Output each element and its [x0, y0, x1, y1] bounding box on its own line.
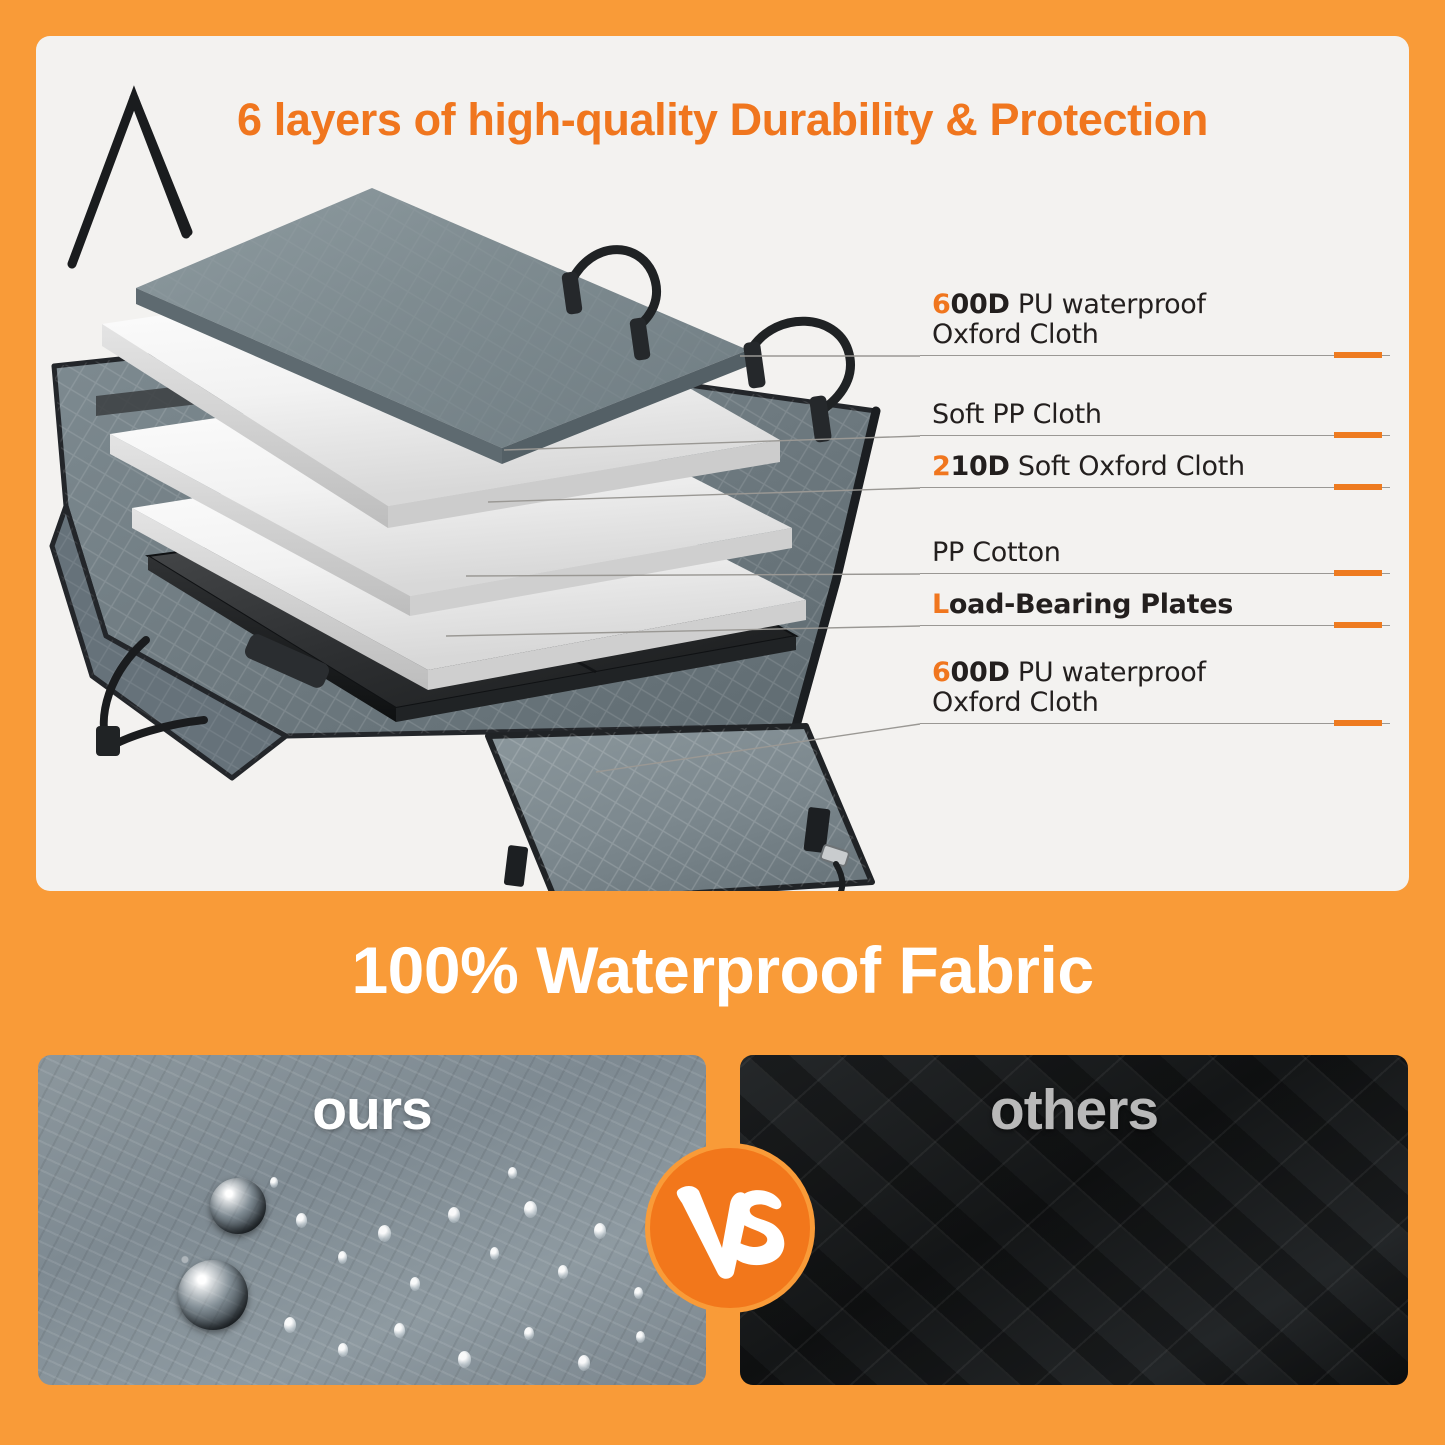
callout-tail-1: PU waterproof	[1010, 289, 1206, 320]
vs-badge	[650, 1148, 810, 1308]
water-droplet	[578, 1355, 590, 1371]
lower-strap-buckle	[96, 726, 120, 756]
callout-layer-5: Load-Bearing Plates	[920, 574, 1390, 626]
water-droplet	[410, 1277, 420, 1291]
water-droplet	[448, 1207, 460, 1223]
callout-dash-6	[1334, 720, 1382, 726]
water-droplet	[296, 1213, 307, 1228]
callout-layer-4: PP Cotton	[920, 488, 1390, 574]
water-droplet	[508, 1167, 517, 1179]
water-bead	[210, 1178, 266, 1234]
water-droplet	[338, 1343, 348, 1357]
vs-icon	[670, 1174, 790, 1282]
callout-label-2: Soft PP Cloth	[932, 400, 1102, 430]
product-exploded-view	[36, 36, 916, 891]
callout-layer-6: 600D PU waterproof Oxford Cloth	[920, 626, 1390, 724]
callout-label-4: PP Cotton	[932, 538, 1061, 568]
water-droplet	[394, 1323, 405, 1338]
water-droplet	[558, 1265, 568, 1279]
banner-title: 100% Waterproof Fabric	[351, 932, 1093, 1008]
product-illustration-svg	[36, 36, 916, 891]
elastic-straps	[72, 98, 188, 264]
callout-layer-1: 600D PU waterproof Oxford Cloth	[920, 251, 1390, 356]
water-droplet	[636, 1331, 645, 1343]
callout-line2-1: Oxford Cloth	[932, 319, 1099, 350]
callout-label-5: Load-Bearing Plates	[932, 590, 1233, 620]
comparison-panel-ours: ours	[38, 1055, 706, 1385]
callout-line2-6: Oxford Cloth	[932, 687, 1099, 718]
callout-label-6: 600D PU waterproof Oxford Cloth	[932, 658, 1206, 718]
callout-lead-rest-6: 00D	[951, 657, 1010, 688]
waterproof-banner: 100% Waterproof Fabric	[0, 900, 1445, 1040]
infographic-canvas: 6 layers of high-quality Durability & Pr…	[0, 0, 1445, 1445]
layers-panel: 6 layers of high-quality Durability & Pr…	[36, 36, 1409, 891]
callout-lead-rest-1: 00D	[951, 289, 1010, 320]
water-droplet	[284, 1317, 296, 1333]
water-droplet	[594, 1223, 606, 1239]
water-droplet	[458, 1351, 471, 1368]
callout-tail-3: Soft Oxford Cloth	[1010, 451, 1245, 482]
water-droplet	[634, 1287, 643, 1299]
water-droplet	[490, 1247, 499, 1260]
callout-lead-1: 6	[932, 289, 951, 320]
water-droplet	[338, 1251, 347, 1264]
callout-label-1: 600D PU waterproof Oxford Cloth	[932, 290, 1206, 350]
comparison-label-ours: ours	[38, 1077, 706, 1143]
comparison-label-others: others	[740, 1077, 1408, 1143]
water-bead	[178, 1260, 248, 1330]
callout-lead-rest-3: 10D	[951, 451, 1010, 482]
water-droplet	[524, 1201, 537, 1218]
callout-label-3: 210D Soft Oxford Cloth	[932, 452, 1245, 482]
liner-front-flap	[488, 726, 872, 891]
comparison-panel-others: others	[740, 1055, 1408, 1385]
callout-layer-2: Soft PP Cloth	[920, 356, 1390, 436]
layer-callout-list: 600D PU waterproof Oxford Cloth Soft PP …	[920, 251, 1390, 751]
callout-lead-3: 2	[932, 451, 951, 482]
callout-lead-rest-5: oad-Bearing Plates	[949, 589, 1233, 620]
callout-tail-4: PP Cotton	[932, 537, 1061, 568]
callout-lead-6: 6	[932, 657, 951, 688]
callout-tail-6: PU waterproof	[1010, 657, 1206, 688]
water-droplet	[524, 1327, 534, 1340]
water-droplet	[378, 1225, 391, 1242]
callout-lead-5: L	[932, 589, 949, 620]
callout-layer-3: 210D Soft Oxford Cloth	[920, 436, 1390, 488]
callout-tail-2: Soft PP Cloth	[932, 399, 1102, 430]
water-droplet	[270, 1177, 278, 1188]
callout-rule-6	[920, 723, 1390, 724]
